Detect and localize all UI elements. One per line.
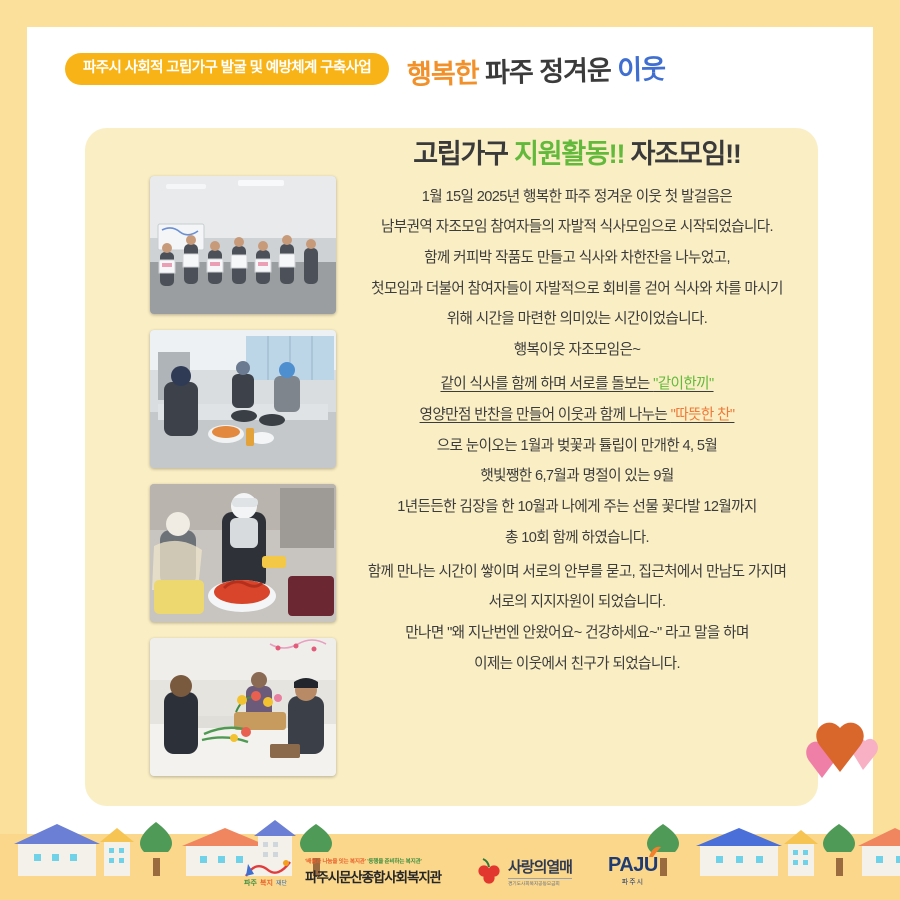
highlight-quote-green: "같이한끼" <box>653 376 713 392</box>
tagline-1: '배움과 나눔을 잇는 복지관' <box>305 859 366 865</box>
body-line: 서로의 지지자원이 되었습니다. <box>352 591 802 613</box>
brand-logo: 행복한 파주 정겨운 이웃 <box>407 47 666 91</box>
welfare-center-mark-icon: 파주 복지 재단 <box>242 856 298 886</box>
brand-happy-text: 행복한 <box>407 58 479 89</box>
logo-community-chest: 사랑의열매 경기도사회복지공동모금회 <box>477 856 572 887</box>
svg-text:복지: 복지 <box>260 878 273 886</box>
title-highlight: 지원활동!! <box>514 139 624 169</box>
photo-flower-arranging <box>150 638 336 776</box>
svg-text:재단: 재단 <box>276 879 288 886</box>
community-chest-name: 사랑의열매 <box>508 856 572 877</box>
tagline-2: '동행을 준비하는 복지관' <box>367 859 421 865</box>
welfare-center-text: '배움과 나눔을 잇는 복지관' '동행을 준비하는 복지관' 파주시문산종합사… <box>305 857 441 886</box>
body-line: 햇빛쨍한 6,7월과 명절이 있는 9월 <box>352 465 802 487</box>
paju-city-mark: PAJU <box>608 855 658 875</box>
body-line: 만나면 "왜 지난번엔 안왔어요~ 건강하세요~" 라고 말을 하며 <box>352 622 802 644</box>
body-line: 1월 15일 2025년 행복한 파주 정겨운 이웃 첫 발걸음은 <box>352 186 802 208</box>
community-chest-sub: 경기도사회복지공동모금회 <box>508 878 572 887</box>
body-line: 이제는 이웃에서 친구가 되었습니다. <box>352 653 802 675</box>
photo-kimchi-making <box>150 484 336 622</box>
paju-flame-icon <box>648 846 662 858</box>
highlight-quote-orange: "따뜻한 찬" <box>671 407 735 423</box>
poster-header: 파주시 사회적 고립가구 발굴 및 예방체계 구축사업 행복한 파주 정겨운 이… <box>27 38 873 100</box>
paju-city-sub: 파주시 <box>622 877 644 887</box>
body-line: 행복이웃 자조모임은~ <box>352 339 802 361</box>
highlight-line-warm-side-dish: 영양만점 반찬을 만들어 이웃과 함께 나누는 "따뜻한 찬" <box>352 404 802 426</box>
title-part-2: 자조모임!! <box>624 139 740 169</box>
brand-neighbor-text: 이웃 <box>617 54 665 85</box>
program-badge: 파주시 사회적 고립가구 발굴 및 예방체계 구축사업 <box>65 53 389 85</box>
body-line: 으로 눈이오는 1월과 벚꽃과 튤립이 만개한 4, 5월 <box>352 435 802 457</box>
body-line: 위해 시간을 마련한 의미있는 시간이었습니다. <box>352 308 802 330</box>
body-line: 함께 만나는 시간이 쌓이며 서로의 안부를 묻고, 집근처에서 만남도 가지며 <box>352 561 802 583</box>
photo-column <box>150 176 336 776</box>
photo-cooking-together <box>150 330 336 468</box>
body-line: 남부권역 자조모임 참여자들의 자발적 식사모임으로 시작되었습니다. <box>352 216 802 238</box>
body-line: 함께 커피박 작품도 만들고 식사와 차한잔을 나누었고, <box>352 247 802 269</box>
brand-paju-text: 파주 정겨운 <box>485 55 611 88</box>
title-part-1: 고립가구 <box>413 139 514 169</box>
fruit-of-love-icon <box>477 858 501 884</box>
welfare-center-name: 파주시문산종합사회복지관 <box>305 866 441 886</box>
body-line: 총 10회 함께 하였습니다. <box>352 527 802 549</box>
svg-text:파주: 파주 <box>244 878 257 886</box>
logo-munsan-welfare-center: 파주 복지 재단 '배움과 나눔을 잇는 복지관' '동행을 준비하는 복지관'… <box>242 856 441 886</box>
highlight-lead: 영양만점 반찬을 만들어 이웃과 함께 나누는 <box>420 407 671 423</box>
body-line: 첫모임과 더불어 참여자들이 자발적으로 회비를 걷어 식사와 차를 마시기 <box>352 278 802 300</box>
body-line: 1년든든한 김장을 한 10월과 나에게 주는 선물 꽃다발 12월까지 <box>352 496 802 518</box>
page-title: 고립가구 지원활동!! 자조모임!! <box>352 138 802 172</box>
community-chest-text: 사랑의열매 경기도사회복지공동모금회 <box>508 856 572 887</box>
poster-root: 파주시 사회적 고립가구 발굴 및 예방체계 구축사업 행복한 파주 정겨운 이… <box>0 0 900 900</box>
footer-logos: 파주 복지 재단 '배움과 나눔을 잇는 복지관' '동행을 준비하는 복지관'… <box>0 848 900 894</box>
highlight-line-together-meal: 같이 식사를 함께 하며 서로를 돌보는 "같이한끼" <box>352 373 802 395</box>
highlight-lead: 같이 식사를 함께 하며 서로를 돌보는 <box>440 376 653 392</box>
logo-paju-city: PAJU 파주시 <box>608 855 658 887</box>
photo-group-portrait <box>150 176 336 314</box>
text-column: 고립가구 지원활동!! 자조모임!! 1월 15일 2025년 행복한 파주 정… <box>352 138 802 684</box>
welfare-center-tagline: '배움과 나눔을 잇는 복지관' '동행을 준비하는 복지관' <box>305 857 422 865</box>
